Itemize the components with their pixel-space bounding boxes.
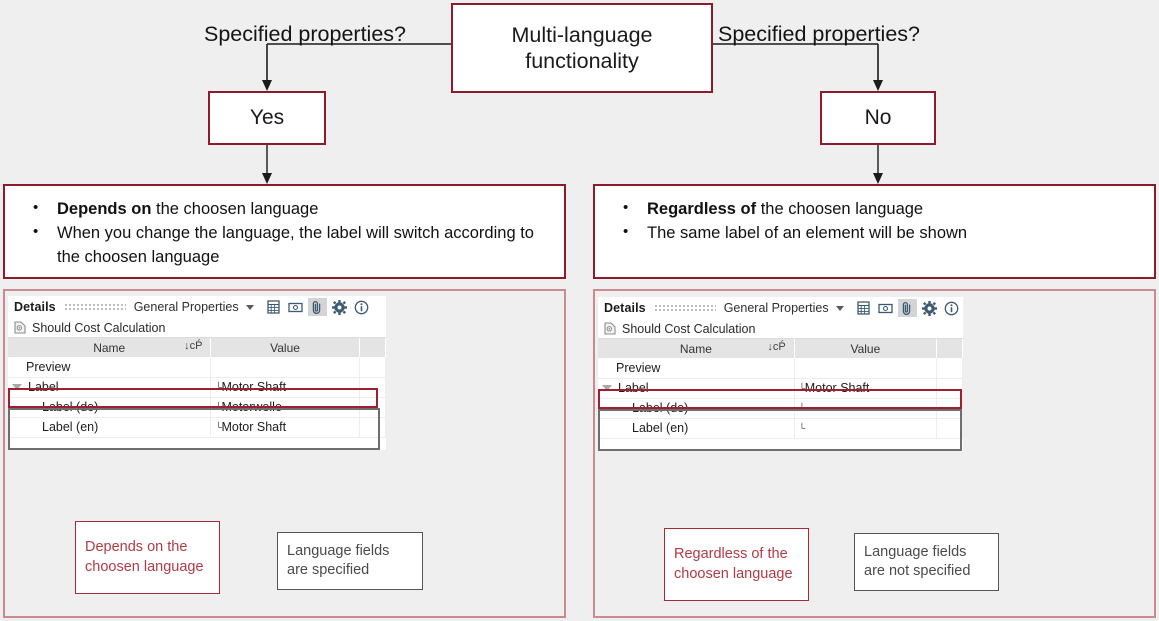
callout-right-red: Regardless of the choosen language — [664, 528, 809, 601]
column-header-value[interactable]: Value — [211, 338, 359, 357]
banknote-icon[interactable] — [876, 299, 895, 317]
cell-value[interactable]: └Motor Shaft — [211, 377, 359, 397]
paperclip-icon[interactable] — [898, 299, 917, 317]
callout-left-red-text: Depends on the choosen language — [85, 538, 210, 576]
edge-label-left-text: Specified properties? — [204, 22, 406, 46]
general-properties-label[interactable]: General Properties — [134, 300, 239, 314]
gear-icon[interactable] — [330, 298, 349, 316]
list-item: The same label of an element will be sho… — [609, 222, 1144, 245]
cell-value-label: Motorwelle — [221, 400, 281, 414]
sort-ascending-az-icon[interactable]: ↓ᴄṔ — [184, 340, 202, 352]
callout-left-red: Depends on the choosen language — [75, 521, 220, 594]
calculator-icon[interactable] — [264, 298, 283, 316]
text-cursor-icon: └ — [799, 404, 804, 412]
flow-box-root-label: Multi-language functionality — [453, 22, 711, 74]
banknote-icon[interactable] — [286, 298, 305, 316]
table-row[interactable]: Preview — [8, 357, 386, 377]
cell-value[interactable]: └ — [794, 398, 936, 418]
list-item: Depends on the choosen language — [19, 198, 554, 221]
paperclip-icon[interactable] — [308, 298, 327, 316]
cell-spacer — [359, 357, 385, 377]
cell-spacer — [359, 417, 385, 437]
table-row[interactable]: Label (en) └Motor Shaft — [8, 417, 386, 437]
cell-name: Preview — [8, 357, 211, 377]
slide-canvas: Specified properties? Specified properti… — [0, 0, 1159, 621]
text-cursor-icon: └ — [215, 403, 220, 411]
edge-label-right: Specified properties? — [718, 22, 920, 47]
toolbar-icon-group — [264, 298, 371, 316]
bullet-rest: The same label of an element will be sho… — [647, 224, 967, 242]
bullet-rest: When you change the language, the label … — [57, 224, 534, 265]
table-row[interactable]: Label (de) └Motorwelle — [8, 397, 386, 417]
callout-left-gray: Language fields are specified — [277, 532, 423, 590]
document-icon — [604, 322, 616, 335]
table-row[interactable]: Label └Motor Shaft — [598, 378, 963, 398]
breadcrumb-label[interactable]: Should Cost Calculation — [32, 321, 165, 335]
column-header-name[interactable]: Name ↓ᴄṔ — [8, 338, 211, 357]
table-row[interactable]: Preview — [598, 358, 963, 378]
drag-handle-dots-icon[interactable] — [64, 303, 126, 311]
cell-name: Label — [598, 378, 794, 398]
bullet-list-right: Regardless of the choosen language The s… — [609, 198, 1144, 246]
cell-name-label: Label — [618, 381, 649, 395]
column-header-value-label: Value — [270, 341, 300, 355]
cell-value[interactable] — [794, 358, 936, 378]
text-cursor-icon: └ — [215, 423, 220, 431]
cell-spacer — [359, 397, 385, 417]
flow-box-root: Multi-language functionality — [451, 3, 713, 93]
edge-label-right-text: Specified properties? — [718, 22, 920, 46]
details-toolbar-left: Details General Properties — [8, 296, 386, 318]
sort-ascending-az-icon[interactable]: ↓ᴄṔ — [767, 341, 785, 353]
breadcrumb: Should Cost Calculation — [598, 319, 963, 339]
details-panel-left: Details General Properties — [8, 296, 386, 450]
cell-spacer — [936, 398, 962, 418]
properties-table-left: Name ↓ᴄṔ Value Preview Labe — [8, 338, 386, 438]
edge-label-left: Specified properties? — [204, 22, 406, 47]
text-cursor-icon: └ — [799, 384, 804, 392]
cell-value[interactable]: └Motorwelle — [211, 397, 359, 417]
cell-name: Label (de) — [8, 397, 211, 417]
column-header-name-label: Name — [680, 342, 712, 356]
column-header-name-label: Name — [93, 341, 125, 355]
flow-box-yes: Yes — [208, 91, 326, 145]
chevron-down-icon[interactable] — [836, 306, 844, 311]
list-item: Regardless of the choosen language — [609, 198, 1144, 221]
cell-value[interactable] — [211, 357, 359, 377]
cell-name: Preview — [598, 358, 794, 378]
cell-name: Label (de) — [598, 398, 794, 418]
flow-box-yes-label: Yes — [250, 105, 284, 131]
callout-left-gray-text: Language fields are specified — [287, 542, 413, 580]
cell-name-label: Label — [28, 380, 59, 394]
column-header-name[interactable]: Name ↓ᴄṔ — [598, 339, 794, 358]
cell-value[interactable]: └Motor Shaft — [794, 378, 936, 398]
properties-table-right: Name ↓ᴄṔ Value Preview Labe — [598, 339, 963, 439]
bullet-bold: Depends on — [57, 200, 151, 218]
gear-icon[interactable] — [920, 299, 939, 317]
bullet-rest: the choosen language — [151, 200, 318, 218]
cell-value[interactable]: └Motor Shaft — [211, 417, 359, 437]
details-toolbar-right: Details General Properties — [598, 297, 963, 319]
info-icon[interactable] — [942, 299, 961, 317]
callout-right-gray-text: Language fields are not specified — [864, 543, 989, 581]
cell-name: Label — [8, 377, 211, 397]
bullet-list-left: Depends on the choosen language When you… — [19, 198, 554, 269]
text-cursor-icon: └ — [799, 424, 804, 432]
bullet-box-right: Regardless of the choosen language The s… — [593, 184, 1156, 279]
cell-value-label: Motor Shaft — [221, 420, 286, 434]
toolbar-icon-group — [854, 299, 961, 317]
list-item: When you change the language, the label … — [19, 222, 554, 269]
details-panel-right: Details General Properties — [598, 297, 963, 451]
table-row[interactable]: Label (en) └ — [598, 418, 963, 438]
cell-spacer — [936, 358, 962, 378]
cell-value-label: Motor Shaft — [221, 380, 286, 394]
cell-name: Label (en) — [8, 417, 211, 437]
breadcrumb-label[interactable]: Should Cost Calculation — [622, 322, 755, 336]
bullet-rest: the choosen language — [756, 200, 923, 218]
drag-handle-dots-icon[interactable] — [654, 304, 716, 312]
flow-box-no: No — [820, 91, 936, 145]
expander-triangle-icon[interactable] — [12, 384, 22, 390]
table-row[interactable]: Label (de) └ — [598, 398, 963, 418]
column-header-spacer — [359, 338, 385, 357]
table-header-row: Name ↓ᴄṔ Value — [8, 338, 386, 357]
bullet-box-left: Depends on the choosen language When you… — [3, 184, 566, 279]
panel-title: Details — [604, 301, 646, 315]
document-icon — [14, 321, 26, 334]
calculator-icon[interactable] — [854, 299, 873, 317]
cell-value-label: Motor Shaft — [805, 381, 870, 395]
panel-title: Details — [14, 300, 56, 314]
cell-spacer — [936, 418, 962, 438]
callout-right-red-text: Regardless of the choosen language — [674, 545, 799, 583]
info-icon[interactable] — [352, 298, 371, 316]
expander-triangle-icon[interactable] — [602, 385, 612, 391]
cell-spacer — [359, 377, 385, 397]
flow-box-no-label: No — [865, 105, 892, 131]
general-properties-label[interactable]: General Properties — [724, 301, 829, 315]
column-header-spacer — [936, 339, 962, 358]
cell-value[interactable]: └ — [794, 418, 936, 438]
text-cursor-icon: └ — [215, 383, 220, 391]
cell-spacer — [936, 378, 962, 398]
breadcrumb: Should Cost Calculation — [8, 318, 386, 338]
chevron-down-icon[interactable] — [246, 305, 254, 310]
table-row[interactable]: Label └Motor Shaft — [8, 377, 386, 397]
bullet-bold: Regardless of — [647, 200, 756, 218]
table-header-row: Name ↓ᴄṔ Value — [598, 339, 963, 358]
column-header-value[interactable]: Value — [794, 339, 936, 358]
cell-name: Label (en) — [598, 418, 794, 438]
callout-right-gray: Language fields are not specified — [854, 533, 999, 591]
column-header-value-label: Value — [850, 342, 880, 356]
